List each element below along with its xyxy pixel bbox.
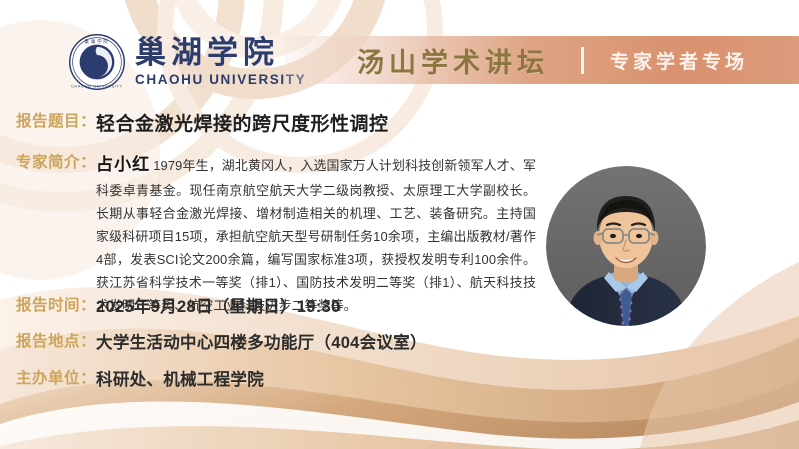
- speaker-name: 占小红: [96, 155, 150, 174]
- report-title-value: 轻合金激光焊接的跨尺度形性调控: [96, 109, 389, 136]
- university-logo-block: 1941 巢湖学院 CHAOHU UNIVERSITY 巢湖学院 CHAOHU …: [68, 33, 306, 91]
- report-time-label: 报告时间：: [16, 293, 96, 315]
- ribbon-divider: [581, 47, 584, 74]
- report-time-value: 2025年9月28日（星期日）19:30: [96, 293, 340, 317]
- speaker-bio-body: 1979年生，湖北黄冈人，入选国家万人计划科技创新领军人才、军科委卓青基金。现任…: [96, 158, 536, 313]
- report-host-row: 主办单位： 科研处、机械工程学院: [16, 366, 264, 390]
- seminar-poster: 1941 巢湖学院 CHAOHU UNIVERSITY 巢湖学院 CHAOHU …: [0, 0, 799, 449]
- wave-foot: [0, 420, 799, 449]
- report-title-row: 报告题目： 轻合金激光焊接的跨尺度形性调控: [16, 109, 389, 136]
- report-title-label: 报告题目：: [16, 109, 96, 131]
- report-time-row: 报告时间： 2025年9月28日（星期日）19:30: [16, 293, 340, 317]
- svg-text:CHAOHU UNIVERSITY: CHAOHU UNIVERSITY: [71, 85, 123, 89]
- forum-ribbon-banner: 汤山学术讲坛 专家学者专场: [285, 36, 799, 84]
- university-name-cn: 巢湖学院: [135, 37, 306, 68]
- svg-text:1941: 1941: [94, 65, 101, 69]
- forum-title: 汤山学术讲坛: [357, 41, 549, 80]
- speaker-portrait: [546, 166, 706, 326]
- report-place-value: 大学生活动中心四楼多功能厅（404会议室）: [96, 329, 427, 353]
- university-name-group: 巢湖学院 CHAOHU UNIVERSITY: [135, 37, 306, 87]
- chaohu-university-seal-icon: 1941 巢湖学院 CHAOHU UNIVERSITY: [68, 33, 126, 91]
- report-place-label: 报告地点：: [16, 329, 96, 351]
- report-place-row: 报告地点： 大学生活动中心四楼多功能厅（404会议室）: [16, 329, 427, 353]
- speaker-bio-label: 专家简介：: [16, 150, 96, 172]
- university-name-en: CHAOHU UNIVERSITY: [135, 73, 306, 87]
- report-host-label: 主办单位：: [16, 366, 96, 388]
- wave-highlight: [0, 402, 799, 449]
- report-host-value: 科研处、机械工程学院: [96, 366, 264, 390]
- poster-header: 1941 巢湖学院 CHAOHU UNIVERSITY 巢湖学院 CHAOHU …: [0, 0, 799, 104]
- forum-subtitle: 专家学者专场: [610, 47, 748, 74]
- speaker-portrait-illustration: [546, 166, 706, 326]
- wave-front: [0, 380, 799, 449]
